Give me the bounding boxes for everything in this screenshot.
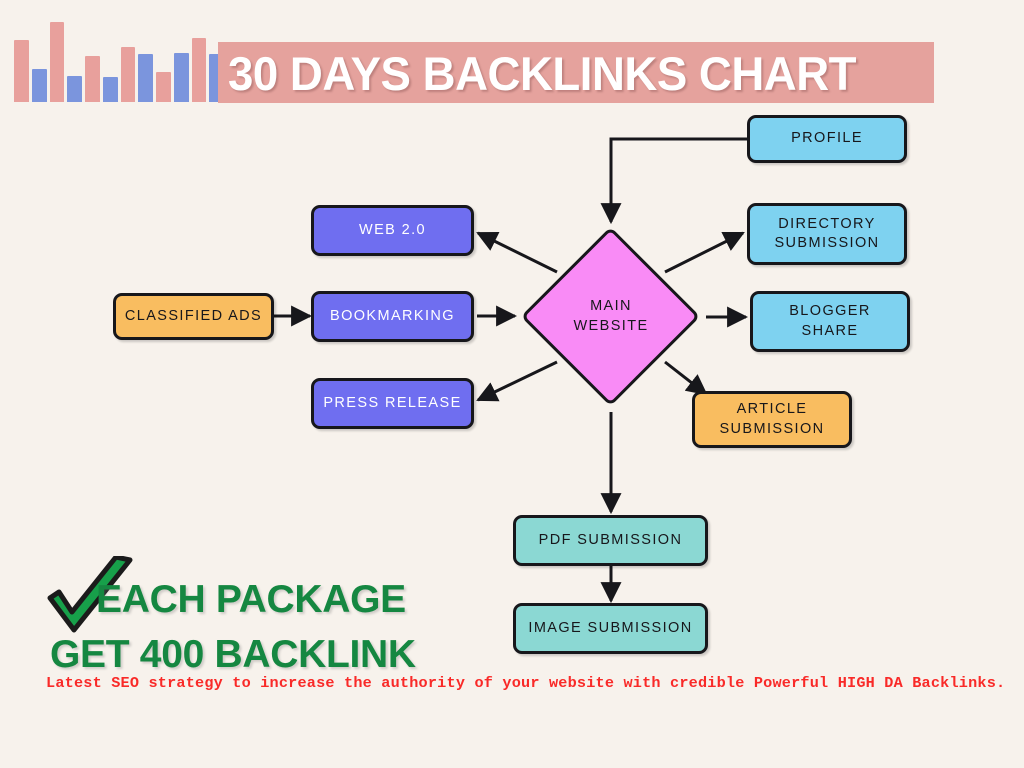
promo-tagline: Latest SEO strategy to increase the auth… <box>46 674 986 692</box>
promo-line-1: EACH PACKAGE <box>96 578 406 622</box>
node-article-submission-label-1: ARTICLE <box>737 400 808 419</box>
logo-bar <box>156 72 171 102</box>
connector-profile-to-main <box>611 139 747 222</box>
node-pdf-submission[interactable]: PDF SUBMISSION <box>513 515 708 566</box>
node-image-submission-label: IMAGE SUBMISSION <box>528 619 692 638</box>
node-blogger-share-label-2: SHARE <box>802 322 859 341</box>
node-directory-submission[interactable]: DIRECTORY SUBMISSION <box>747 203 907 265</box>
node-bookmarking[interactable]: BOOKMARKING <box>311 291 474 342</box>
node-press-release-label: PRESS RELEASE <box>323 394 461 413</box>
node-article-submission[interactable]: ARTICLE SUBMISSION <box>692 391 852 448</box>
page-title: 30 DAYS BACKLINKS CHART <box>228 44 913 102</box>
logo-bar <box>32 69 47 102</box>
node-profile[interactable]: PROFILE <box>747 115 907 163</box>
logo-bar <box>14 40 29 102</box>
node-press-release[interactable]: PRESS RELEASE <box>311 378 474 429</box>
node-blogger-share-label-1: BLOGGER <box>789 302 871 321</box>
node-web-20[interactable]: WEB 2.0 <box>311 205 474 256</box>
node-bookmarking-label: BOOKMARKING <box>330 307 455 326</box>
node-profile-label: PROFILE <box>791 129 863 148</box>
node-classified-ads[interactable]: CLASSIFIED ADS <box>113 293 274 340</box>
node-main-website[interactable]: MAIN WEBSITE <box>521 227 701 407</box>
node-image-submission[interactable]: IMAGE SUBMISSION <box>513 603 708 654</box>
diamond-shape <box>521 227 701 407</box>
node-directory-submission-label-1: DIRECTORY <box>778 215 875 234</box>
logo-bar <box>67 76 82 102</box>
logo-bar <box>121 47 136 102</box>
logo-bar <box>174 53 189 102</box>
logo-bar <box>85 56 100 102</box>
node-classified-ads-label: CLASSIFIED ADS <box>125 307 262 326</box>
node-directory-submission-label-2: SUBMISSION <box>774 234 879 253</box>
node-article-submission-label-2: SUBMISSION <box>719 420 824 439</box>
promo-line-2: GET 400 BACKLINK <box>50 633 416 677</box>
node-pdf-submission-label: PDF SUBMISSION <box>539 531 683 550</box>
node-blogger-share[interactable]: BLOGGER SHARE <box>750 291 910 352</box>
logo-bar <box>50 22 65 102</box>
logo-bar <box>192 38 207 102</box>
node-web-20-label: WEB 2.0 <box>359 221 426 240</box>
logo-bar <box>138 54 153 102</box>
logo-bar <box>103 77 118 102</box>
bar-chart-logo <box>14 22 224 102</box>
